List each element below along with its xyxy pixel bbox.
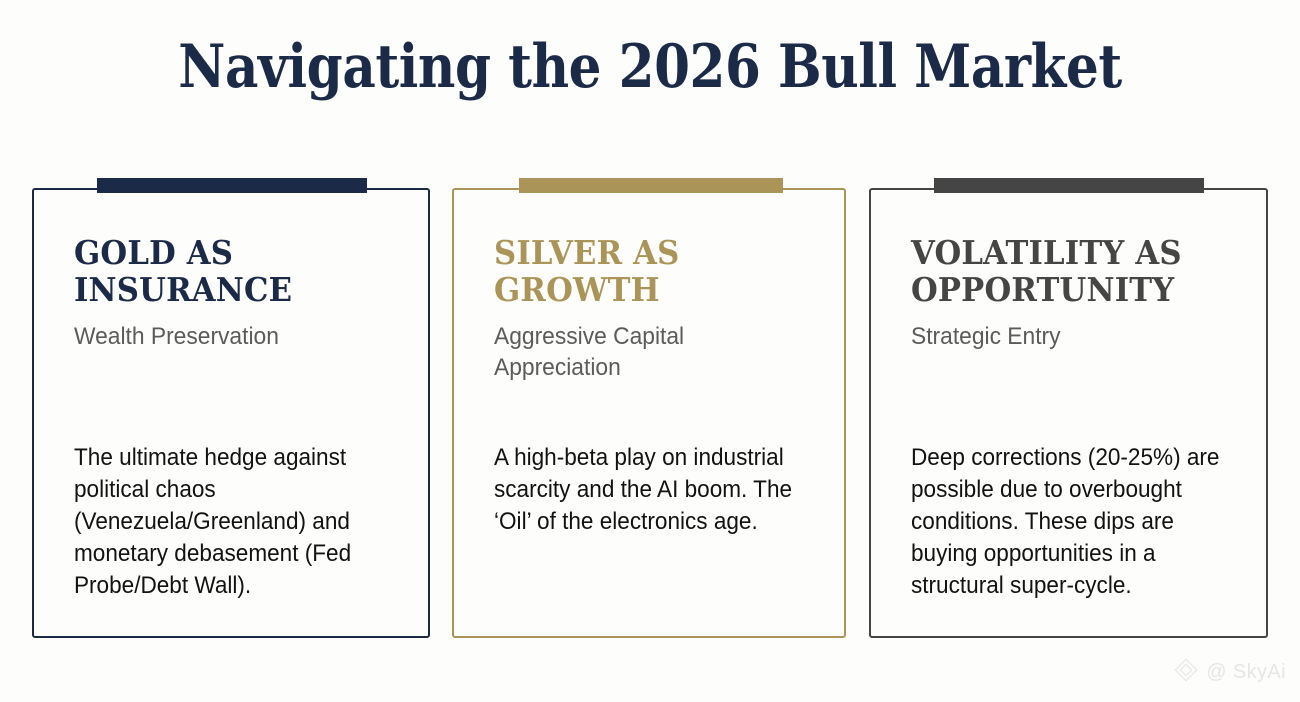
card-heading: VOLATILITY AS OPPORTUNITY (911, 234, 1219, 309)
card-body-group: The ultimate hedge against political cha… (74, 442, 408, 602)
card-accent-bar (934, 178, 1204, 193)
card-gold-as-insurance: GOLD AS INSURANCE Wealth Preservation Th… (32, 188, 430, 638)
card-silver-as-growth: SILVER AS GROWTH Aggressive Capital Appr… (452, 188, 846, 638)
card-body-text: Deep corrections (20-25%) are possible d… (911, 442, 1226, 602)
card-heading: GOLD AS INSURANCE (74, 234, 381, 309)
card-body-text: A high-beta play on industrial scarcity … (494, 442, 804, 538)
card-heading: SILVER AS GROWTH (494, 234, 797, 309)
card-body-group: A high-beta play on industrial scarcity … (494, 442, 824, 538)
watermark: @ SkyAi (1173, 657, 1286, 688)
card-body-group: Deep corrections (20-25%) are possible d… (911, 442, 1246, 602)
card-accent-bar (97, 178, 367, 193)
card-subtitle: Aggressive Capital Appreciation (494, 321, 804, 384)
card-header-group: GOLD AS INSURANCE Wealth Preservation (74, 234, 404, 352)
card-header-group: SILVER AS GROWTH Aggressive Capital Appr… (494, 234, 820, 384)
cards-row: GOLD AS INSURANCE Wealth Preservation Th… (32, 178, 1268, 640)
card-subtitle: Wealth Preservation (74, 321, 388, 353)
card-accent-bar (519, 178, 783, 193)
card-subtitle: Strategic Entry (911, 321, 1225, 353)
card-volatility-as-opportunity: VOLATILITY AS OPPORTUNITY Strategic Entr… (869, 188, 1268, 638)
watermark-label: @ SkyAi (1206, 661, 1286, 684)
card-header-group: VOLATILITY AS OPPORTUNITY Strategic Entr… (911, 234, 1242, 352)
diamond-logo-icon (1173, 657, 1199, 688)
page-title: Navigating the 2026 Bull Market (91, 36, 1209, 99)
card-body-text: The ultimate hedge against political cha… (74, 442, 388, 602)
